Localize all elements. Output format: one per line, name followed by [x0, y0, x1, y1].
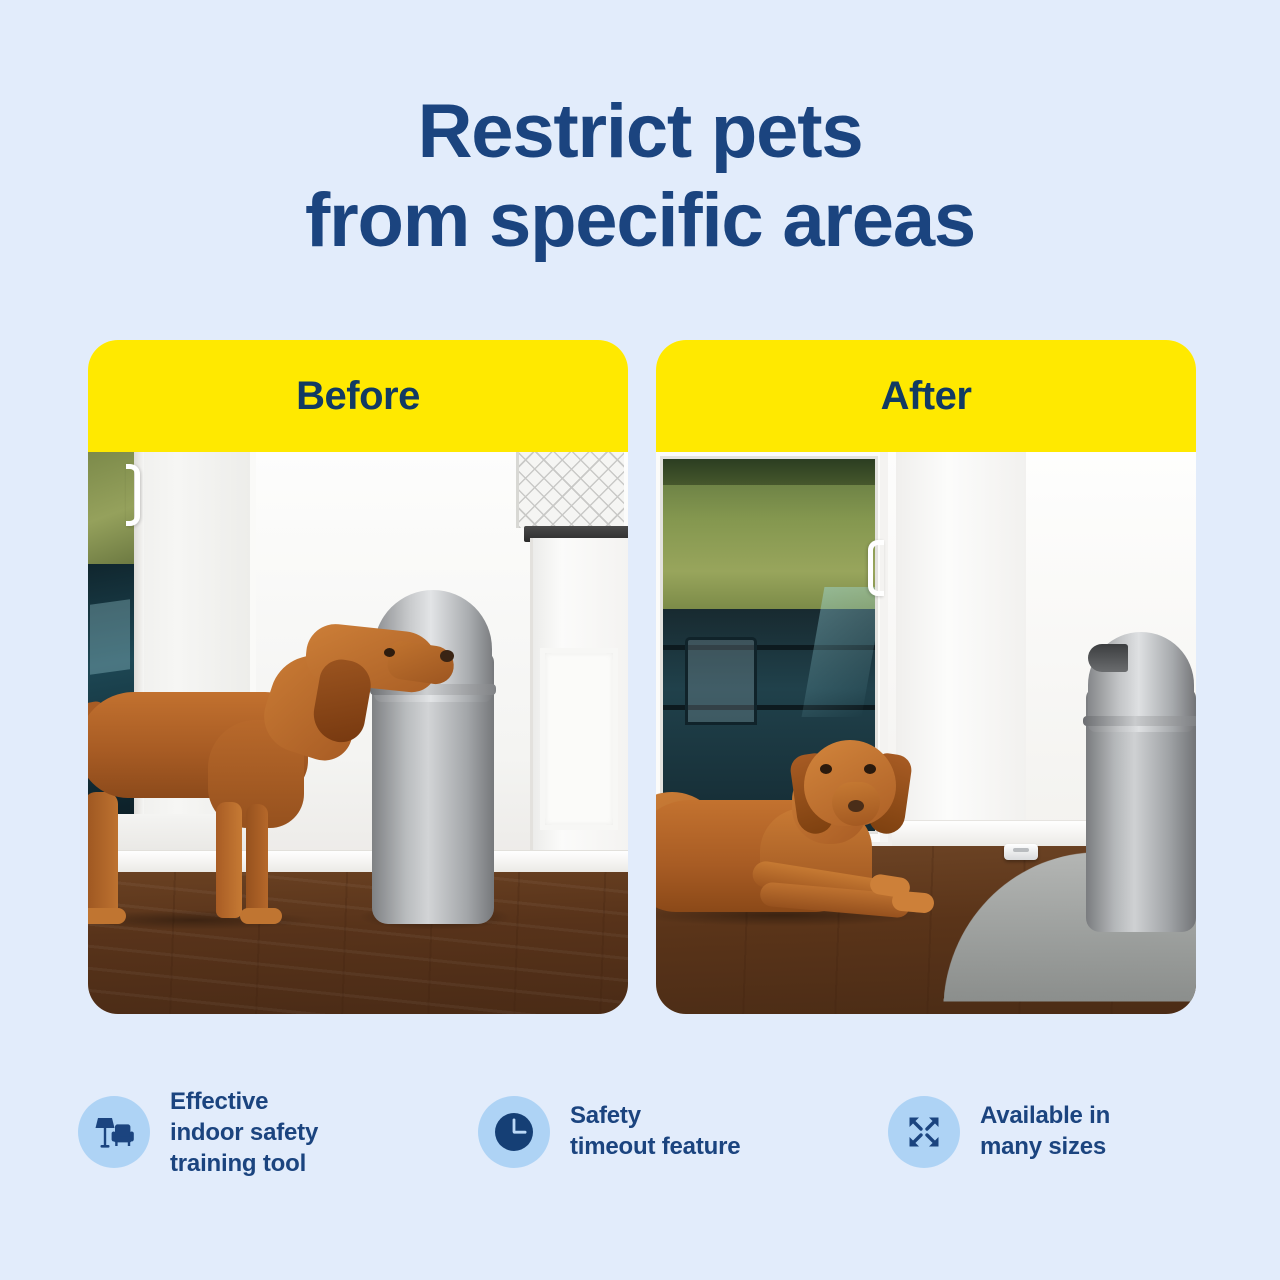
feature-label-line: Available in: [980, 1100, 1110, 1131]
comparison-card-after: After: [656, 340, 1196, 1014]
after-banner-label: After: [881, 374, 972, 419]
herringbone-backsplash: [516, 452, 624, 528]
dog-front-leg-left: [216, 802, 242, 918]
lamp-armchair-icon: [78, 1096, 150, 1168]
dog-hind-leg: [88, 792, 118, 918]
hardwood-floor: [88, 872, 628, 1014]
feature-list: Effective indoor safety training tool Sa…: [78, 1078, 1208, 1208]
feature-label-line: many sizes: [980, 1131, 1110, 1162]
floor-grain: [88, 872, 628, 1014]
feature-label-line: indoor safety: [170, 1117, 318, 1148]
dog-front-paw: [240, 908, 282, 924]
door-handle-icon: [868, 540, 884, 596]
page-title: Restrict pets from specific areas: [0, 88, 1280, 266]
dog-eye-left: [820, 764, 832, 774]
cabinet-door-panel: [540, 648, 618, 830]
baseboard: [88, 850, 628, 874]
after-photo: [656, 452, 1196, 1014]
transmitter-device: [1004, 844, 1038, 860]
door-glass-reflection: [90, 599, 130, 675]
patio-chair: [685, 637, 757, 725]
before-after-comparison: Before: [88, 340, 1196, 1014]
door-handle-icon: [126, 464, 140, 526]
feature-label-safety-timeout: Safety timeout feature: [570, 1078, 740, 1162]
expand-arrows-icon: [888, 1096, 960, 1168]
feature-item-training-tool: Effective indoor safety training tool: [78, 1078, 318, 1180]
trash-can-rim: [1083, 716, 1196, 726]
feature-label-line: timeout feature: [570, 1131, 740, 1162]
outdoor-treeline: [663, 459, 875, 485]
before-photo: [88, 452, 628, 1014]
dog-eye-right: [864, 764, 876, 774]
dog-nose: [848, 800, 864, 812]
feature-label-line: Safety: [570, 1100, 740, 1131]
comparison-card-before: Before: [88, 340, 628, 1014]
trash-can-flap: [1088, 644, 1128, 672]
feature-label-line: Effective: [170, 1086, 318, 1117]
dog-front-paw-right: [891, 890, 935, 914]
before-banner: Before: [88, 340, 628, 452]
feature-item-many-sizes: Available in many sizes: [888, 1078, 1110, 1168]
page-title-line-1: Restrict pets: [418, 89, 863, 174]
after-banner: After: [656, 340, 1196, 452]
kitchen-cabinet: [530, 538, 628, 874]
dog-eye: [384, 648, 395, 657]
before-banner-label: Before: [296, 374, 420, 419]
dog-hind-paw: [88, 908, 126, 924]
feature-item-safety-timeout: Safety timeout feature: [478, 1078, 740, 1168]
feature-label-line: training tool: [170, 1148, 318, 1179]
feature-label-training-tool: Effective indoor safety training tool: [170, 1078, 318, 1180]
feature-label-many-sizes: Available in many sizes: [980, 1078, 1110, 1162]
dog-front-leg-right: [246, 804, 268, 918]
dog-nose: [440, 650, 454, 662]
door-white-panel: [896, 452, 1026, 842]
page-title-line-2: from specific areas: [0, 177, 1280, 266]
clock-icon: [478, 1096, 550, 1168]
